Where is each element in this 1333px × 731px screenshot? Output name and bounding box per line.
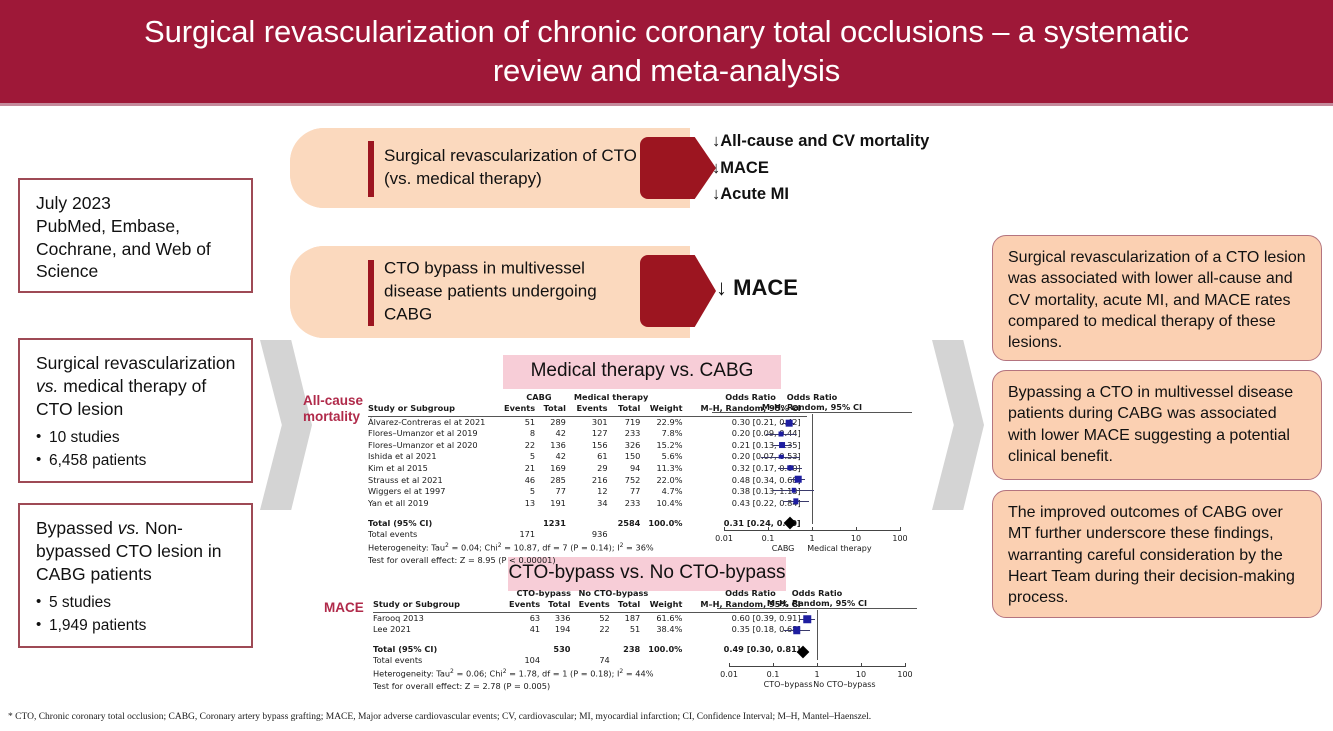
cell-events-2: 29 xyxy=(574,463,616,475)
plot-title: Odds RatioM–H, Random, 95% CI xyxy=(717,588,917,609)
axis-tick-label: 1 xyxy=(809,534,814,543)
effect-marker xyxy=(793,626,801,634)
cell-events-2: 301 xyxy=(574,416,616,428)
comparison-1-title-italic: vs. xyxy=(36,376,58,396)
cell-events-2: 156 xyxy=(574,440,616,452)
forest-row-summary xyxy=(712,523,912,524)
cell-weight: 11.3% xyxy=(648,463,690,475)
column-header: Events xyxy=(578,599,617,610)
banner-label: CTO bypass in multivessel disease patien… xyxy=(384,258,644,327)
forest-row xyxy=(712,490,912,491)
axis-tick xyxy=(861,663,862,667)
forest-row xyxy=(712,479,912,480)
axis-tick-label: 10 xyxy=(856,670,866,679)
conclusion-box-2: Bypassing a CTO in multivessel disease p… xyxy=(992,370,1322,480)
cell-te-2: 936 xyxy=(574,529,616,541)
plot-top-rule xyxy=(712,412,912,413)
cell-study: Álvarez-Contreras el at 2021 xyxy=(368,416,504,428)
cell-events-1: 63 xyxy=(509,612,548,624)
list-item: 6,458 patients xyxy=(36,450,237,472)
column-header: Weight xyxy=(648,403,690,414)
cell-total-2: 77 xyxy=(616,486,649,498)
cell-events-1: 41 xyxy=(509,624,548,636)
conclusion-box-1: Surgical revascularization of a CTO lesi… xyxy=(992,235,1322,361)
outcomes-list-2: ↓ MACE xyxy=(716,275,798,301)
cell-study: Flores–Umanzor et al 2019 xyxy=(368,428,504,440)
outcomes-list-1: ↓All-cause and CV mortality ↓MACE ↓Acute… xyxy=(712,128,929,208)
cell-total-2: 238 xyxy=(618,643,649,655)
cell-total-2: 51 xyxy=(618,624,649,636)
comparison-2-title-a: Bypassed xyxy=(36,518,118,538)
axis-left-label: CABG xyxy=(772,544,795,553)
cell-weight: 61.6% xyxy=(648,612,690,624)
outcome-label-all-cause-mortality: All-cause mortality xyxy=(303,393,365,425)
axis-right-label: No CTO–bypass xyxy=(813,680,875,689)
effect-marker xyxy=(779,432,784,437)
axis-tick-label: 0.1 xyxy=(762,534,775,543)
cell-total-1: 530 xyxy=(548,643,578,655)
cell-total-2: 2584 xyxy=(616,517,649,529)
arrow-right-icon xyxy=(640,137,716,199)
comparison-1-title: Surgical revascularization vs. medical t… xyxy=(36,352,237,420)
cell-weight: 38.4% xyxy=(648,624,690,636)
poster-graphical-abstract: Surgical revascularization of chronic co… xyxy=(0,0,1333,731)
list-item: 1,949 patients xyxy=(36,615,237,637)
cell-total-2: 187 xyxy=(618,612,649,624)
column-header: Events xyxy=(574,403,616,414)
cell-events-2: 52 xyxy=(578,612,617,624)
cell-total-1: 42 xyxy=(543,428,574,440)
column-header: Total xyxy=(618,599,649,610)
comparison-1-title-a: Surgical revascularization xyxy=(36,353,235,373)
cell-weight: 22.9% xyxy=(648,416,690,428)
column-header: Weight xyxy=(648,599,690,610)
cell-te-1: 104 xyxy=(509,655,548,667)
intervention-banner-2: CTO bypass in multivessel disease patien… xyxy=(290,246,690,338)
outcome-item: ↓All-cause and CV mortality xyxy=(712,128,929,155)
forest-row-summary xyxy=(717,652,917,653)
list-item: 10 studies xyxy=(36,427,237,449)
banner-accent-bar xyxy=(368,141,374,197)
column-header: Total xyxy=(543,403,574,414)
comparison-2-title-italic: vs. xyxy=(118,518,140,538)
comparison-2-title: Bypassed vs. Non-bypassed CTO lesion in … xyxy=(36,517,237,585)
effect-marker xyxy=(779,442,785,448)
column-header: Events xyxy=(509,599,548,610)
cell-weight: 100.0% xyxy=(648,643,690,655)
forest-row xyxy=(712,501,912,502)
summary-diamond xyxy=(797,646,810,659)
cell-weight: 15.2% xyxy=(648,440,690,452)
column-header: Events xyxy=(504,403,543,414)
cell-study: Kim et al 2015 xyxy=(368,463,504,475)
cell-te-1: 171 xyxy=(504,529,543,541)
axis-tick xyxy=(817,663,818,667)
cell-te-2: 74 xyxy=(578,655,617,667)
plot-area xyxy=(717,608,917,670)
plot-top-rule xyxy=(717,608,917,609)
axis-tick xyxy=(856,527,857,531)
forest-row xyxy=(717,630,917,631)
cell-events-2: 22 xyxy=(578,624,617,636)
cell-total-2: 150 xyxy=(616,451,649,463)
header-underline xyxy=(0,103,1333,106)
cell-weight: 22.0% xyxy=(648,475,690,487)
cell-events-2: 12 xyxy=(574,486,616,498)
cell-total-1: 194 xyxy=(548,624,578,636)
forest-plot-all-cause-mortality: CABGMedical therapyOdds RatioStudy or Su… xyxy=(368,392,928,566)
cell-events-1: 8 xyxy=(504,428,543,440)
search-databases: PubMed, Embase, Cochrane, and Web of Sci… xyxy=(36,215,237,283)
comparison-1-box: Surgical revascularization vs. medical t… xyxy=(18,338,253,483)
column-header: Study or Subgroup xyxy=(373,599,509,610)
cell-study: Flores–Umanzor et al 2020 xyxy=(368,440,504,452)
cell-weight: 10.4% xyxy=(648,498,690,510)
group-header-cell: No CTO-bypass xyxy=(578,588,648,599)
cell-events-1: 5 xyxy=(504,451,543,463)
intervention-banner-1: Surgical revascularization of CTO (vs. m… xyxy=(290,128,690,208)
cell-total-1: 77 xyxy=(543,486,574,498)
comparison-1-bullets: 10 studies 6,458 patients xyxy=(36,427,237,472)
effect-marker xyxy=(803,615,811,623)
cell-events-1: 51 xyxy=(504,416,543,428)
axis-tick xyxy=(900,527,901,531)
page-title: Surgical revascularization of chronic co… xyxy=(142,13,1192,91)
axis-left-label: CTO–bypass xyxy=(764,680,813,689)
cell-weight: 5.6% xyxy=(648,451,690,463)
forest-row xyxy=(712,468,912,469)
outcome-item: ↓MACE xyxy=(712,155,929,182)
cell-total-1: 289 xyxy=(543,416,574,428)
outcome-item: ↓ MACE xyxy=(716,275,798,301)
axis-tick-label: 0.01 xyxy=(715,534,733,543)
comparison-2-bullets: 5 studies 1,949 patients xyxy=(36,592,237,637)
effect-marker xyxy=(791,488,795,492)
outcome-item: ↓Acute MI xyxy=(712,181,929,208)
cell-total-1: 1231 xyxy=(543,517,574,529)
cell-total-label: Total (95% CI) xyxy=(368,517,504,529)
axis-tick-label: 0.01 xyxy=(720,670,738,679)
effect-marker xyxy=(779,454,784,459)
cell-events-1: 5 xyxy=(504,486,543,498)
cell-study: Lee 2021 xyxy=(373,624,509,636)
heterogeneity-text: Heterogeneity: Tau2 = 0.04; Chi2 = 10.87… xyxy=(368,541,807,554)
effect-marker xyxy=(786,420,793,427)
column-header: Total xyxy=(548,599,578,610)
axis-right-label: Medical therapy xyxy=(807,544,871,553)
cell-events-1: 46 xyxy=(504,475,543,487)
footnote-abbreviations: * CTO, Chronic coronary total occlusion;… xyxy=(8,712,1128,722)
cell-study: Wiggers el at 1997 xyxy=(368,486,504,498)
cell-events-1: 22 xyxy=(504,440,543,452)
axis-tick xyxy=(905,663,906,667)
axis-tick xyxy=(812,527,813,531)
cell-total-label: Total (95% CI) xyxy=(373,643,509,655)
banner-accent-bar xyxy=(368,260,374,326)
group-header-cell: Medical therapy xyxy=(574,392,648,403)
conclusion-box-3: The improved outcomes of CABG over MT fu… xyxy=(992,490,1322,618)
cell-total-1: 336 xyxy=(548,612,578,624)
axis-tick-label: 100 xyxy=(892,534,907,543)
list-item: 5 studies xyxy=(36,592,237,614)
cell-total-events-label: Total events xyxy=(373,655,509,667)
comparison-2-box: Bypassed vs. Non-bypassed CTO lesion in … xyxy=(18,503,253,648)
search-details-box: July 2023 PubMed, Embase, Cochrane, and … xyxy=(18,178,253,293)
group-header-cell: CTO-bypass xyxy=(509,588,578,599)
effect-marker xyxy=(787,465,792,470)
group-header-cell: CABG xyxy=(504,392,574,403)
plot-title: Odds RatioM–H, Random, 95% CI xyxy=(712,392,912,413)
column-header: Total xyxy=(616,403,649,414)
cell-events-1: 13 xyxy=(504,498,543,510)
search-date: July 2023 xyxy=(36,192,237,215)
axis-tick xyxy=(773,663,774,667)
cell-total-2: 326 xyxy=(616,440,649,452)
cell-total-1: 136 xyxy=(543,440,574,452)
cell-events-2: 216 xyxy=(574,475,616,487)
cell-total-2: 233 xyxy=(616,428,649,440)
axis-tick-label: 10 xyxy=(851,534,861,543)
plot-area xyxy=(712,412,912,518)
axis-tick xyxy=(768,527,769,531)
forest-row xyxy=(712,434,912,435)
forest-plot-panel: Odds RatioM–H, Random, 95% CI0.010.11101… xyxy=(717,588,917,693)
axis-tick-label: 100 xyxy=(897,670,912,679)
axis-tick xyxy=(724,527,725,531)
axis-tick-label: 1 xyxy=(814,670,819,679)
cell-weight: 4.7% xyxy=(648,486,690,498)
cell-total-1: 169 xyxy=(543,463,574,475)
effect-marker xyxy=(793,499,798,504)
arrow-right-icon xyxy=(640,255,716,327)
cell-study: Strauss et al 2021 xyxy=(368,475,504,487)
axis-tick xyxy=(729,663,730,667)
banner-label: Surgical revascularization of CTO (vs. m… xyxy=(384,145,644,191)
cell-total-2: 719 xyxy=(616,416,649,428)
chevron-right-icon xyxy=(932,340,984,510)
cell-weight: 7.8% xyxy=(648,428,690,440)
cell-total-1: 42 xyxy=(543,451,574,463)
forest-row xyxy=(712,445,912,446)
cell-total-2: 94 xyxy=(616,463,649,475)
cell-events-2: 61 xyxy=(574,451,616,463)
null-effect-line xyxy=(812,414,813,524)
forest-row xyxy=(712,457,912,458)
cell-total-2: 233 xyxy=(616,498,649,510)
header-band: Surgical revascularization of chronic co… xyxy=(0,0,1333,103)
cell-study: Farooq 2013 xyxy=(373,612,509,624)
effect-marker xyxy=(795,476,802,483)
cell-events-1: 21 xyxy=(504,463,543,475)
summary-diamond xyxy=(783,517,796,530)
section-pill-all-cause: Medical therapy vs. CABG xyxy=(503,355,781,389)
forest-plot-mace: CTO-bypassNo CTO-bypassOdds RatioStudy o… xyxy=(373,588,933,692)
cell-total-1: 285 xyxy=(543,475,574,487)
cell-total-1: 191 xyxy=(543,498,574,510)
overall-effect-text: Test for overall effect: Z = 8.95 (P < 0… xyxy=(368,554,807,566)
forest-plot-panel: Odds RatioM–H, Random, 95% CI0.010.11101… xyxy=(712,392,912,542)
cell-events-2: 34 xyxy=(574,498,616,510)
cell-study: Ishida et al 2021 xyxy=(368,451,504,463)
forest-row xyxy=(712,423,912,424)
column-header: Study or Subgroup xyxy=(368,403,504,414)
cell-study: Yan et all 2019 xyxy=(368,498,504,510)
cell-weight: 100.0% xyxy=(648,517,690,529)
forest-row xyxy=(717,619,917,620)
cell-total-2: 752 xyxy=(616,475,649,487)
comparison-1-title-b: medical therapy of CTO lesion xyxy=(36,376,206,419)
cell-total-events-label: Total events xyxy=(368,529,504,541)
axis-tick-label: 0.1 xyxy=(767,670,780,679)
cell-events-2: 127 xyxy=(574,428,616,440)
